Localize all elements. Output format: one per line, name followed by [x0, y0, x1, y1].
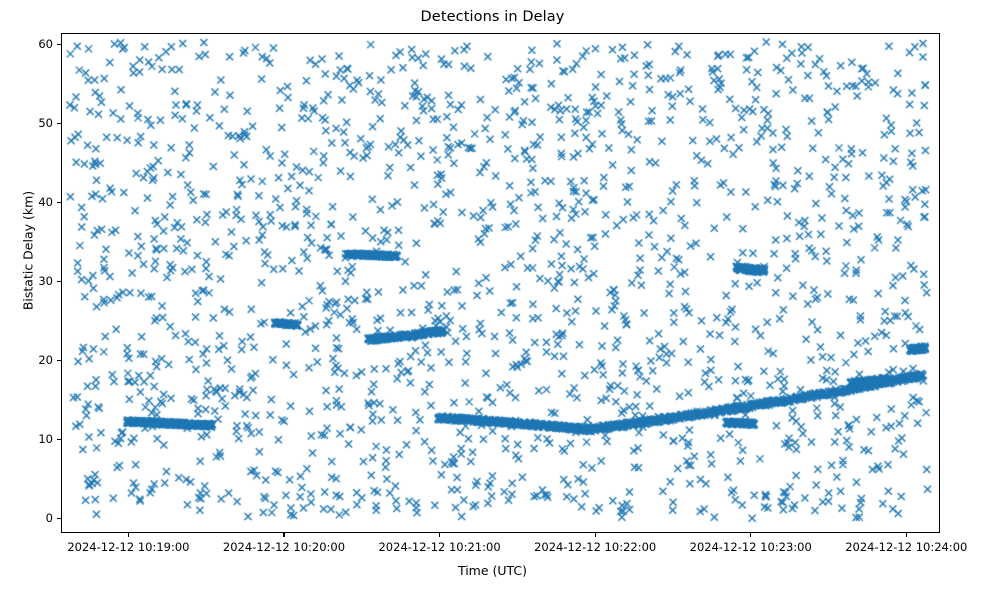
chart-title: Detections in Delay — [0, 9, 985, 25]
scatter-plot-canvas — [62, 34, 940, 533]
x-tick-mark — [595, 533, 596, 537]
x-tick-mark — [283, 533, 284, 537]
y-tick-label: 20 — [38, 353, 53, 367]
matplotlib-figure: Detections in Delay 0102030405060 Bistat… — [0, 0, 985, 590]
x-axis-ticks: 2024-12-12 10:19:002024-12-12 10:20:0020… — [61, 533, 940, 563]
x-tick-label: 2024-12-12 10:20:00 — [223, 540, 345, 554]
y-tick-label: 60 — [38, 37, 53, 51]
x-tick-label: 2024-12-12 10:23:00 — [690, 540, 812, 554]
y-tick-label: 0 — [46, 511, 53, 525]
y-tick-label: 40 — [38, 195, 53, 209]
x-tick-mark — [750, 533, 751, 537]
x-tick-label: 2024-12-12 10:19:00 — [67, 540, 189, 554]
x-tick-mark — [906, 533, 907, 537]
y-tick-label: 30 — [38, 274, 53, 288]
x-axis-label: Time (UTC) — [0, 563, 985, 578]
y-axis-label: Bistatic Delay (km) — [21, 121, 36, 381]
x-tick-label: 2024-12-12 10:22:00 — [534, 540, 656, 554]
x-tick-label: 2024-12-12 10:24:00 — [845, 540, 967, 554]
y-tick-label: 50 — [38, 116, 53, 130]
y-tick-label: 10 — [38, 432, 53, 446]
plot-area — [61, 33, 940, 533]
x-tick-label: 2024-12-12 10:21:00 — [378, 540, 500, 554]
x-tick-mark — [439, 533, 440, 537]
x-tick-mark — [128, 533, 129, 537]
